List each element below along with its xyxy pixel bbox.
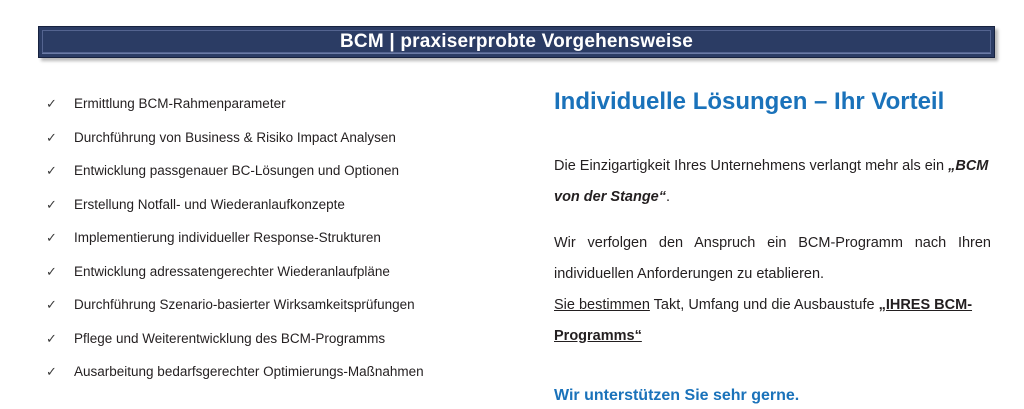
closing-statement: Wir unterstützen Sie sehr gerne. [554, 386, 991, 405]
check-mark-icon: ✓ [46, 97, 74, 110]
list-item-label: Entwicklung passgenauer BC-Lösungen und … [74, 163, 399, 179]
list-item: ✓ Durchführung von Business & Risiko Imp… [46, 130, 516, 164]
bcm-checklist: ✓ Ermittlung BCM-Rahmenparameter ✓ Durch… [46, 96, 516, 398]
check-mark-icon: ✓ [46, 198, 74, 211]
list-item: ✓ Durchführung Szenario-basierter Wirksa… [46, 297, 516, 331]
list-item-label: Durchführung Szenario-basierter Wirksamk… [74, 297, 415, 313]
banner-inner-frame: BCM | praxiserprobte Vorgehensweise [42, 30, 991, 53]
paragraph-approach: Wir verfolgen den Anspruch ein BCM-Progr… [554, 228, 991, 290]
list-item: ✓ Ausarbeitung bedarfsgerechter Optimier… [46, 364, 516, 398]
section-heading: Individuelle Lösungen – Ihr Vorteil [554, 88, 991, 117]
banner-underline-rule [42, 53, 991, 54]
paragraph-uniqueness-trailing: . [666, 189, 670, 205]
paragraph-you-decide: Sie bestimmen Takt, Umfang und die Ausba… [554, 290, 991, 352]
list-item: ✓ Ermittlung BCM-Rahmenparameter [46, 96, 516, 130]
paragraph-uniqueness: Die Einzigartigkeit Ihres Unternehmens v… [554, 151, 991, 213]
check-mark-icon: ✓ [46, 265, 74, 278]
list-item-label: Ermittlung BCM-Rahmenparameter [74, 96, 286, 112]
paragraph-uniqueness-lead: Die Einzigartigkeit Ihres Unternehmens v… [554, 158, 948, 174]
list-item-label: Erstellung Notfall- und Wiederanlaufkonz… [74, 197, 345, 213]
right-content-column: Individuelle Lösungen – Ihr Vorteil Die … [554, 88, 991, 405]
check-mark-icon: ✓ [46, 131, 74, 144]
list-item-label: Durchführung von Business & Risiko Impac… [74, 130, 396, 146]
list-item: ✓ Erstellung Notfall- und Wiederanlaufko… [46, 197, 516, 231]
list-item: ✓ Entwicklung adressatengerechter Wieder… [46, 264, 516, 298]
check-mark-icon: ✓ [46, 332, 74, 345]
paragraph-you-decide-middle: Takt, Umfang und die Ausbaustufe [650, 297, 879, 313]
check-mark-icon: ✓ [46, 298, 74, 311]
check-mark-icon: ✓ [46, 164, 74, 177]
check-mark-icon: ✓ [46, 365, 74, 378]
list-item-label: Entwicklung adressatengerechter Wiederan… [74, 264, 390, 280]
list-item-label: Implementierung individueller Response-S… [74, 230, 381, 246]
paragraph-you-decide-lead: Sie bestimmen [554, 297, 650, 313]
page-title: BCM | praxiserprobte Vorgehensweise [340, 32, 693, 51]
check-mark-icon: ✓ [46, 231, 74, 244]
list-item-label: Ausarbeitung bedarfsgerechter Optimierun… [74, 364, 424, 380]
list-item-label: Pflege und Weiterentwicklung des BCM-Pro… [74, 331, 385, 347]
slide-header-banner: BCM | praxiserprobte Vorgehensweise [38, 26, 995, 58]
list-item: ✓ Implementierung individueller Response… [46, 230, 516, 264]
list-item: ✓ Entwicklung passgenauer BC-Lösungen un… [46, 163, 516, 197]
list-item: ✓ Pflege und Weiterentwicklung des BCM-P… [46, 331, 516, 365]
